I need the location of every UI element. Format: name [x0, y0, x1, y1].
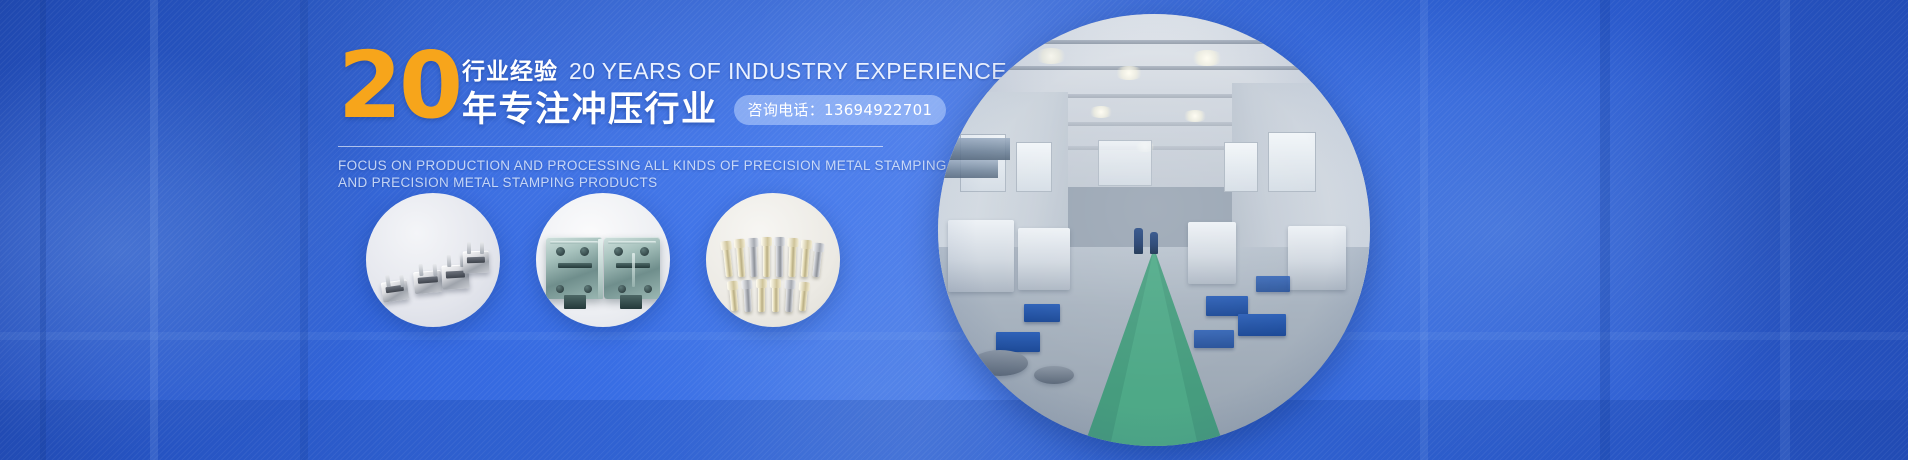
cn-headline: 年专注冲压行业	[462, 89, 718, 131]
factory-photo	[938, 14, 1370, 446]
promo-banner: 20 行业经验 20 YEARS OF INDUSTRY EXPERIENCE …	[0, 0, 1908, 460]
cn-tagline-small: 行业经验	[462, 52, 558, 86]
headline-line: 年专注冲压行业 咨询电话：13694922701	[462, 89, 1007, 131]
years-number: 20	[338, 43, 460, 129]
product-photo-terminal-pins	[706, 193, 840, 327]
headline-row: 20 行业经验 20 YEARS OF INDUSTRY EXPERIENCE …	[338, 44, 898, 132]
product-photo-stamping-mold	[536, 193, 670, 327]
description-line-2: AND PRECISION METAL STAMPING PRODUCTS	[338, 174, 898, 191]
description-text: FOCUS ON PRODUCTION AND PROCESSING ALL K…	[338, 157, 898, 191]
description-line-1: FOCUS ON PRODUCTION AND PROCESSING ALL K…	[338, 157, 898, 174]
tagline-line: 行业经验 20 YEARS OF INDUSTRY EXPERIENCE	[462, 52, 1007, 86]
product-photo-connectors	[366, 193, 500, 327]
phone-badge[interactable]: 咨询电话：13694922701	[734, 95, 947, 125]
banner-copy-block: 20 行业经验 20 YEARS OF INDUSTRY EXPERIENCE …	[338, 44, 898, 191]
factory-vignette	[938, 14, 1370, 446]
headline-column: 行业经验 20 YEARS OF INDUSTRY EXPERIENCE 年专注…	[462, 52, 1007, 131]
divider-rule	[338, 146, 883, 147]
